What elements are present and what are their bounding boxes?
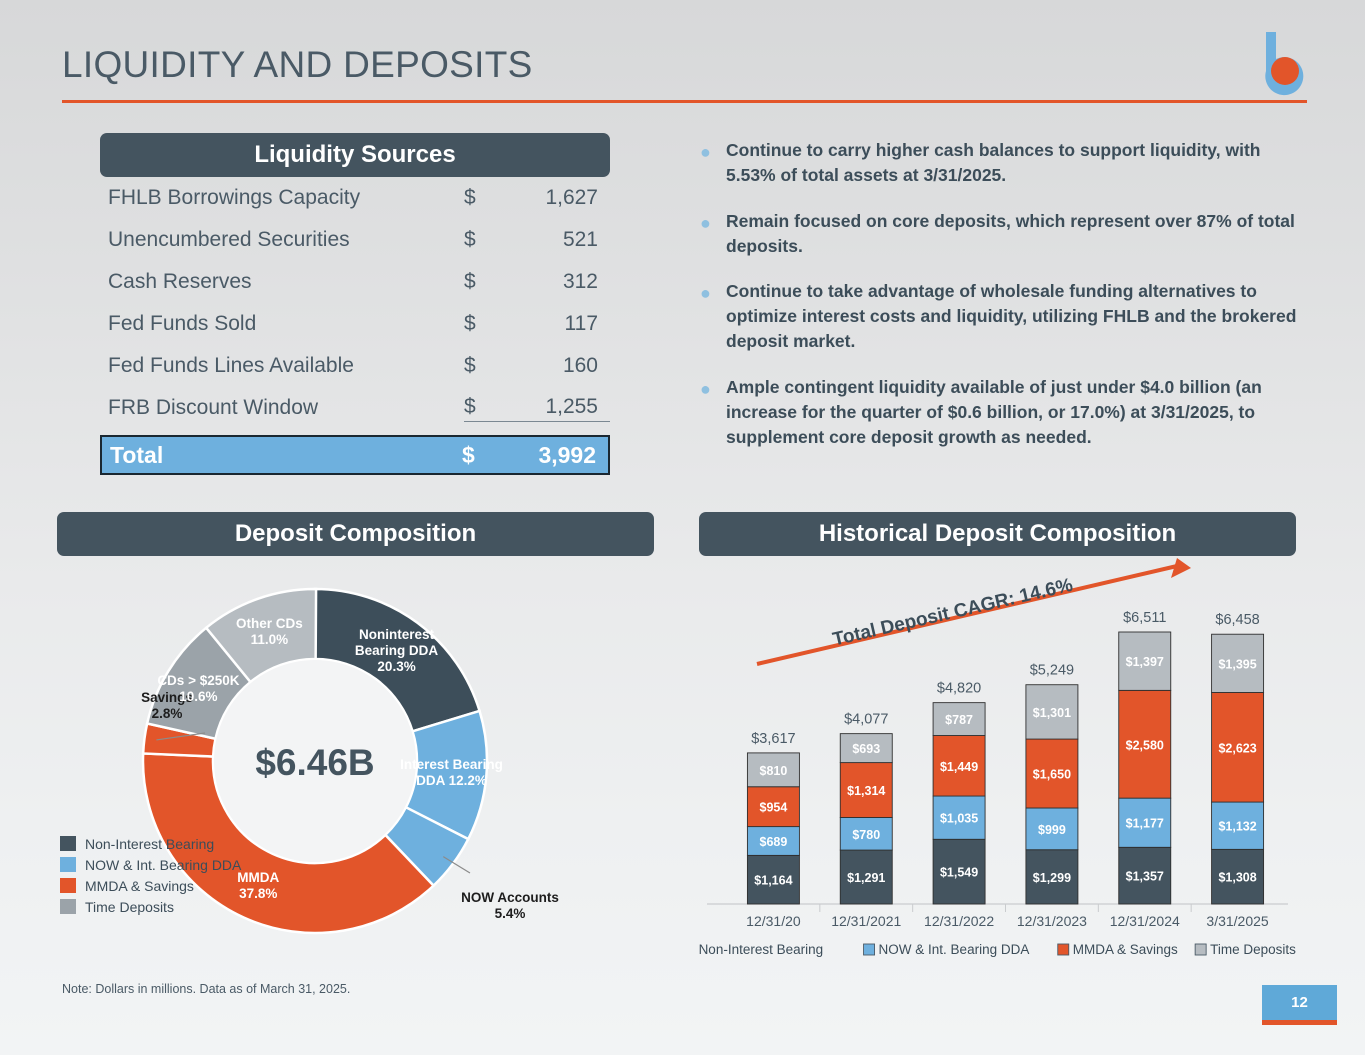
bar-segment-label: $689 [760, 835, 788, 849]
donut-label-line: 2.8% [152, 706, 183, 721]
liquidity-total-currency: $ [462, 442, 516, 469]
liquidity-row-label: FHLB Borrowings Capacity [108, 186, 464, 210]
deposit-composition-header: Deposit Composition [57, 512, 654, 556]
bar-segment-label: $780 [852, 828, 880, 842]
donut-label-line: MMDA [237, 870, 279, 885]
commentary-bullets: ●Continue to carry higher cash balances … [700, 138, 1310, 470]
donut-legend-label: Non-Interest Bearing [85, 836, 214, 852]
donut-center-value: $6.46B [255, 742, 374, 783]
bar-segment-label: $787 [945, 713, 973, 727]
liquidity-total-label: Total [110, 442, 462, 469]
donut-slice-label: Other CDs11.0% [199, 616, 339, 648]
donut-legend-item: MMDA & Savings [60, 875, 241, 896]
donut-label-line: 5.4% [495, 906, 526, 921]
bullet-text: Remain focused on core deposits, which r… [726, 209, 1310, 259]
page-number-accent-bar [1262, 1020, 1337, 1025]
donut-label-line: 11.0% [251, 632, 289, 647]
bar-segment-label: $1,397 [1126, 655, 1164, 669]
b-logo [1252, 26, 1316, 98]
bar-segment-label: $810 [760, 764, 788, 778]
bar-legend-label: Non-Interest Bearing [699, 942, 823, 957]
bullet-dot-icon: ● [700, 279, 726, 354]
bar-segment-label: $1,650 [1033, 768, 1071, 782]
bar-segment-label: $1,314 [847, 784, 885, 798]
donut-label-line: Interest Bearing [400, 757, 503, 772]
x-axis-tick-label: 12/31/2024 [1110, 913, 1180, 929]
liquidity-total-value: 3,992 [516, 442, 608, 469]
liquidity-row-label: Cash Reserves [108, 270, 464, 294]
bar-segment-label: $2,580 [1126, 738, 1164, 752]
bar-segment-label: $1,301 [1033, 706, 1071, 720]
liquidity-row-currency: $ [464, 270, 518, 294]
donut-legend-item: NOW & Int. Bearing DDA [60, 854, 241, 875]
bullet-text: Continue to carry higher cash balances t… [726, 138, 1310, 188]
x-axis-tick-label: 12/31/2022 [924, 913, 994, 929]
liquidity-total-row: Total $ 3,992 [100, 435, 610, 475]
bar-segment-label: $1,291 [847, 871, 885, 885]
liquidity-row: FHLB Borrowings Capacity$1,627 [100, 177, 610, 219]
footnote: Note: Dollars in millions. Data as of Ma… [62, 982, 350, 996]
bar-total-label: $6,458 [1215, 612, 1259, 628]
page-title: LIQUIDITY AND DEPOSITS [62, 44, 533, 86]
donut-legend-label: MMDA & Savings [85, 878, 194, 894]
donut-slice-label: Interest BearingDDA 12.2% [381, 757, 521, 789]
bar-segment-label: $1,357 [1126, 870, 1164, 884]
bar-segment-label: $1,449 [940, 760, 978, 774]
bullet-item: ●Remain focused on core deposits, which … [700, 209, 1310, 259]
bullet-dot-icon: ● [700, 375, 726, 450]
donut-legend-swatch [60, 899, 76, 914]
cagr-arrow-head [1171, 558, 1191, 578]
donut-legend-swatch [60, 857, 76, 872]
liquidity-row-label: Unencumbered Securities [108, 228, 464, 252]
bar-segment-label: $2,623 [1218, 741, 1256, 755]
liquidity-sources-header: Liquidity Sources [100, 133, 610, 177]
liquidity-row: Fed Funds Sold$117 [100, 303, 610, 345]
donut-slice-label: NoninterestBearing DDA20.3% [327, 627, 467, 675]
donut-label-line: Other CDs [236, 616, 303, 631]
liquidity-row-currency: $ [464, 228, 518, 252]
bullet-dot-icon: ● [700, 138, 726, 188]
x-axis-tick-label: 3/31/2025 [1206, 913, 1268, 929]
bar-legend-swatch [1058, 944, 1069, 955]
x-axis-tick-label: 12/31/20 [746, 913, 801, 929]
donut-label-line: 20.3% [377, 659, 415, 674]
bar-total-label: $3,617 [751, 731, 795, 747]
bar-segment-label: $693 [852, 742, 880, 756]
donut-legend-label: Time Deposits [85, 899, 174, 915]
donut-label-line: NOW Accounts [461, 890, 559, 905]
liquidity-row-label: Fed Funds Lines Available [108, 354, 464, 378]
liquidity-rows: FHLB Borrowings Capacity$1,627Unencumber… [100, 177, 610, 429]
bar-segment-label: $1,035 [940, 812, 978, 826]
donut-label-line: 37.8% [239, 886, 277, 901]
donut-legend-swatch [60, 836, 76, 851]
liquidity-row-value: 312 [518, 270, 610, 294]
donut-label-line: Bearing DDA [355, 643, 438, 658]
liquidity-row-value: 1,627 [518, 186, 610, 210]
bar-segment-label: $1,549 [940, 866, 978, 880]
bullet-item: ●Ample contingent liquidity available of… [700, 375, 1310, 450]
liquidity-row: Unencumbered Securities$521 [100, 219, 610, 261]
historical-deposit-panel: Historical Deposit Composition Total Dep… [699, 512, 1296, 966]
liquidity-sources-panel: Liquidity Sources FHLB Borrowings Capaci… [100, 133, 610, 475]
donut-legend-item: Time Deposits [60, 896, 241, 917]
bar-segment-label: $1,299 [1033, 871, 1071, 885]
bar-segment-label: $1,164 [754, 874, 792, 888]
liquidity-row-currency: $ [464, 395, 518, 422]
bar-legend-swatch [864, 944, 875, 955]
bullet-dot-icon: ● [700, 209, 726, 259]
donut-slice-label: CDs > $250K10.6% [128, 673, 268, 705]
bar-segment-label: $954 [760, 801, 788, 815]
donut-label-line: Noninterest [359, 627, 434, 642]
stacked-bar-chart: Total Deposit CAGR: 14.6%$1,164$689$954$… [699, 556, 1296, 966]
bar-total-label: $4,077 [844, 712, 888, 728]
bar-segment-label: $1,395 [1218, 657, 1256, 671]
bar-segment-label: $999 [1038, 823, 1066, 837]
liquidity-row-label: Fed Funds Sold [108, 312, 464, 336]
bar-total-label: $5,249 [1030, 663, 1074, 679]
bar-total-label: $6,511 [1123, 610, 1166, 626]
bar-legend-label: Time Deposits [1210, 942, 1296, 957]
liquidity-row-currency: $ [464, 312, 518, 336]
bullet-text: Continue to take advantage of wholesale … [726, 279, 1310, 354]
page-number: 12 [1262, 985, 1337, 1020]
title-underline-rule [62, 100, 1307, 103]
liquidity-row-value: 1,255 [518, 395, 610, 422]
donut-legend-swatch [60, 878, 76, 893]
liquidity-row-value: 521 [518, 228, 610, 252]
liquidity-row-value: 160 [518, 354, 610, 378]
bullet-item: ●Continue to carry higher cash balances … [700, 138, 1310, 188]
liquidity-row: FRB Discount Window$1,255 [100, 387, 610, 429]
bar-legend-swatch [1195, 944, 1206, 955]
stacked-bar-chart-svg: Total Deposit CAGR: 14.6%$1,164$689$954$… [699, 556, 1296, 966]
donut-slice-label: NOW Accounts5.4% [435, 890, 585, 922]
cagr-annotation: Total Deposit CAGR: 14.6% [831, 575, 1075, 651]
bar-legend-label: NOW & Int. Bearing DDA [879, 942, 1030, 957]
liquidity-row: Cash Reserves$312 [100, 261, 610, 303]
donut-legend-item: Non-Interest Bearing [60, 833, 241, 854]
x-axis-tick-label: 12/31/2021 [831, 913, 901, 929]
bar-legend-label: MMDA & Savings [1073, 942, 1178, 957]
donut-label-line: 10.6% [179, 689, 217, 704]
liquidity-row: Fed Funds Lines Available$160 [100, 345, 610, 387]
bullet-item: ●Continue to take advantage of wholesale… [700, 279, 1310, 354]
liquidity-row-currency: $ [464, 186, 518, 210]
donut-label-line: DDA 12.2% [416, 773, 487, 788]
bar-segment-label: $1,132 [1218, 820, 1256, 834]
slide: LIQUIDITY AND DEPOSITS Liquidity Sources… [0, 0, 1365, 1055]
bar-segment-label: $1,177 [1126, 817, 1164, 831]
donut-legend-label: NOW & Int. Bearing DDA [85, 857, 241, 873]
liquidity-row-value: 117 [518, 312, 610, 336]
liquidity-row-label: FRB Discount Window [108, 396, 464, 420]
donut-legend: Non-Interest BearingNOW & Int. Bearing D… [60, 833, 241, 917]
bar-segment-label: $1,308 [1218, 871, 1256, 885]
bar-total-label: $4,820 [937, 681, 981, 697]
historical-deposit-header: Historical Deposit Composition [699, 512, 1296, 556]
donut-label-line: CDs > $250K [157, 673, 239, 688]
x-axis-tick-label: 12/31/2023 [1017, 913, 1087, 929]
bullet-text: Ample contingent liquidity available of … [726, 375, 1310, 450]
liquidity-row-currency: $ [464, 354, 518, 378]
